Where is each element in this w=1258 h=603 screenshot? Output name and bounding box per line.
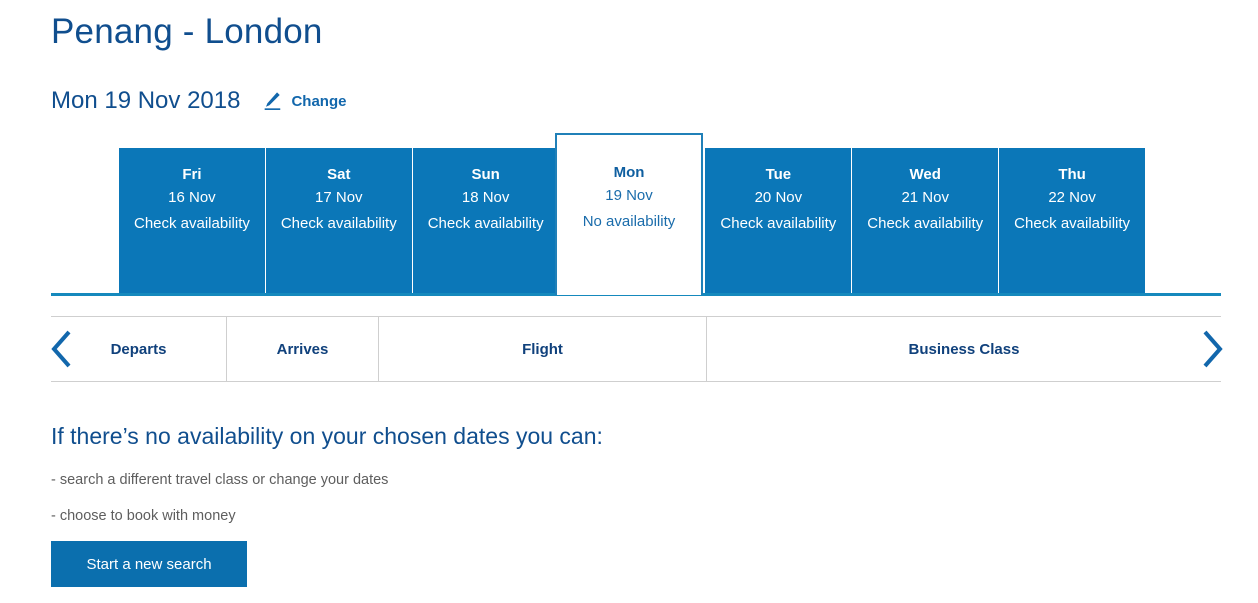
flight-availability-page: Penang - London Mon 19 Nov 2018 Change	[0, 0, 1258, 603]
change-date-link[interactable]: Change	[261, 90, 346, 112]
date-tab-dom: 19 Nov	[605, 183, 653, 209]
results-table-header: Departs Arrives Flight Business Class	[51, 316, 1221, 382]
date-tab-dow: Thu	[1058, 165, 1086, 185]
date-tab-dow: Tue	[766, 165, 792, 185]
date-tab-availability: Check availability	[720, 211, 836, 237]
date-tab-dom: 17 Nov	[315, 185, 363, 211]
date-tab-dom: 16 Nov	[168, 185, 216, 211]
date-tab-dow: Sun	[471, 165, 499, 185]
date-tab-tue-20-nov[interactable]: Tue 20 Nov Check availability	[705, 148, 852, 293]
date-tab-dom: 20 Nov	[755, 185, 803, 211]
date-tabs: Fri 16 Nov Check availability Sat 17 Nov…	[119, 148, 1146, 293]
page-title: Penang - London	[51, 12, 323, 52]
column-header-arrives[interactable]: Arrives	[227, 317, 379, 381]
date-tab-availability: No availability	[583, 209, 676, 235]
selected-date-row: Mon 19 Nov 2018 Change	[51, 85, 346, 117]
column-header-business-class[interactable]: Business Class	[707, 317, 1221, 381]
date-tab-availability: Check availability	[1014, 211, 1130, 237]
date-tab-sat-17-nov[interactable]: Sat 17 Nov Check availability	[266, 148, 413, 293]
date-tab-dom: 21 Nov	[901, 185, 949, 211]
column-header-departs[interactable]: Departs	[51, 317, 227, 381]
selected-date-label: Mon 19 Nov 2018	[51, 87, 240, 115]
date-tab-dom: 18 Nov	[462, 185, 510, 211]
date-tab-dow: Mon	[614, 163, 645, 183]
no-availability-heading: If there’s no availability on your chose…	[51, 423, 603, 450]
date-tab-dow: Sat	[327, 165, 350, 185]
date-tab-dow: Wed	[910, 165, 941, 185]
no-availability-option-2: - choose to book with money	[51, 508, 236, 524]
column-header-flight[interactable]: Flight	[379, 317, 707, 381]
date-strip: Fri 16 Nov Check availability Sat 17 Nov…	[0, 125, 1258, 305]
start-new-search-button[interactable]: Start a new search	[51, 541, 247, 587]
date-tab-availability: Check availability	[134, 211, 250, 237]
date-tab-wed-21-nov[interactable]: Wed 21 Nov Check availability	[852, 148, 999, 293]
date-tab-mon-19-nov-selected[interactable]: Mon 19 Nov No availability	[555, 133, 703, 295]
date-tab-sun-18-nov[interactable]: Sun 18 Nov Check availability	[413, 148, 560, 293]
date-tab-dow: Fri	[182, 165, 201, 185]
date-tab-fri-16-nov[interactable]: Fri 16 Nov Check availability	[119, 148, 266, 293]
date-tab-availability: Check availability	[867, 211, 983, 237]
date-tab-thu-22-nov[interactable]: Thu 22 Nov Check availability	[999, 148, 1146, 293]
change-link-label: Change	[291, 93, 346, 110]
pencil-icon	[261, 90, 283, 112]
date-tab-dom: 22 Nov	[1048, 185, 1096, 211]
no-availability-option-1: - search a different travel class or cha…	[51, 472, 388, 488]
date-tab-availability: Check availability	[281, 211, 397, 237]
date-tab-availability: Check availability	[428, 211, 544, 237]
